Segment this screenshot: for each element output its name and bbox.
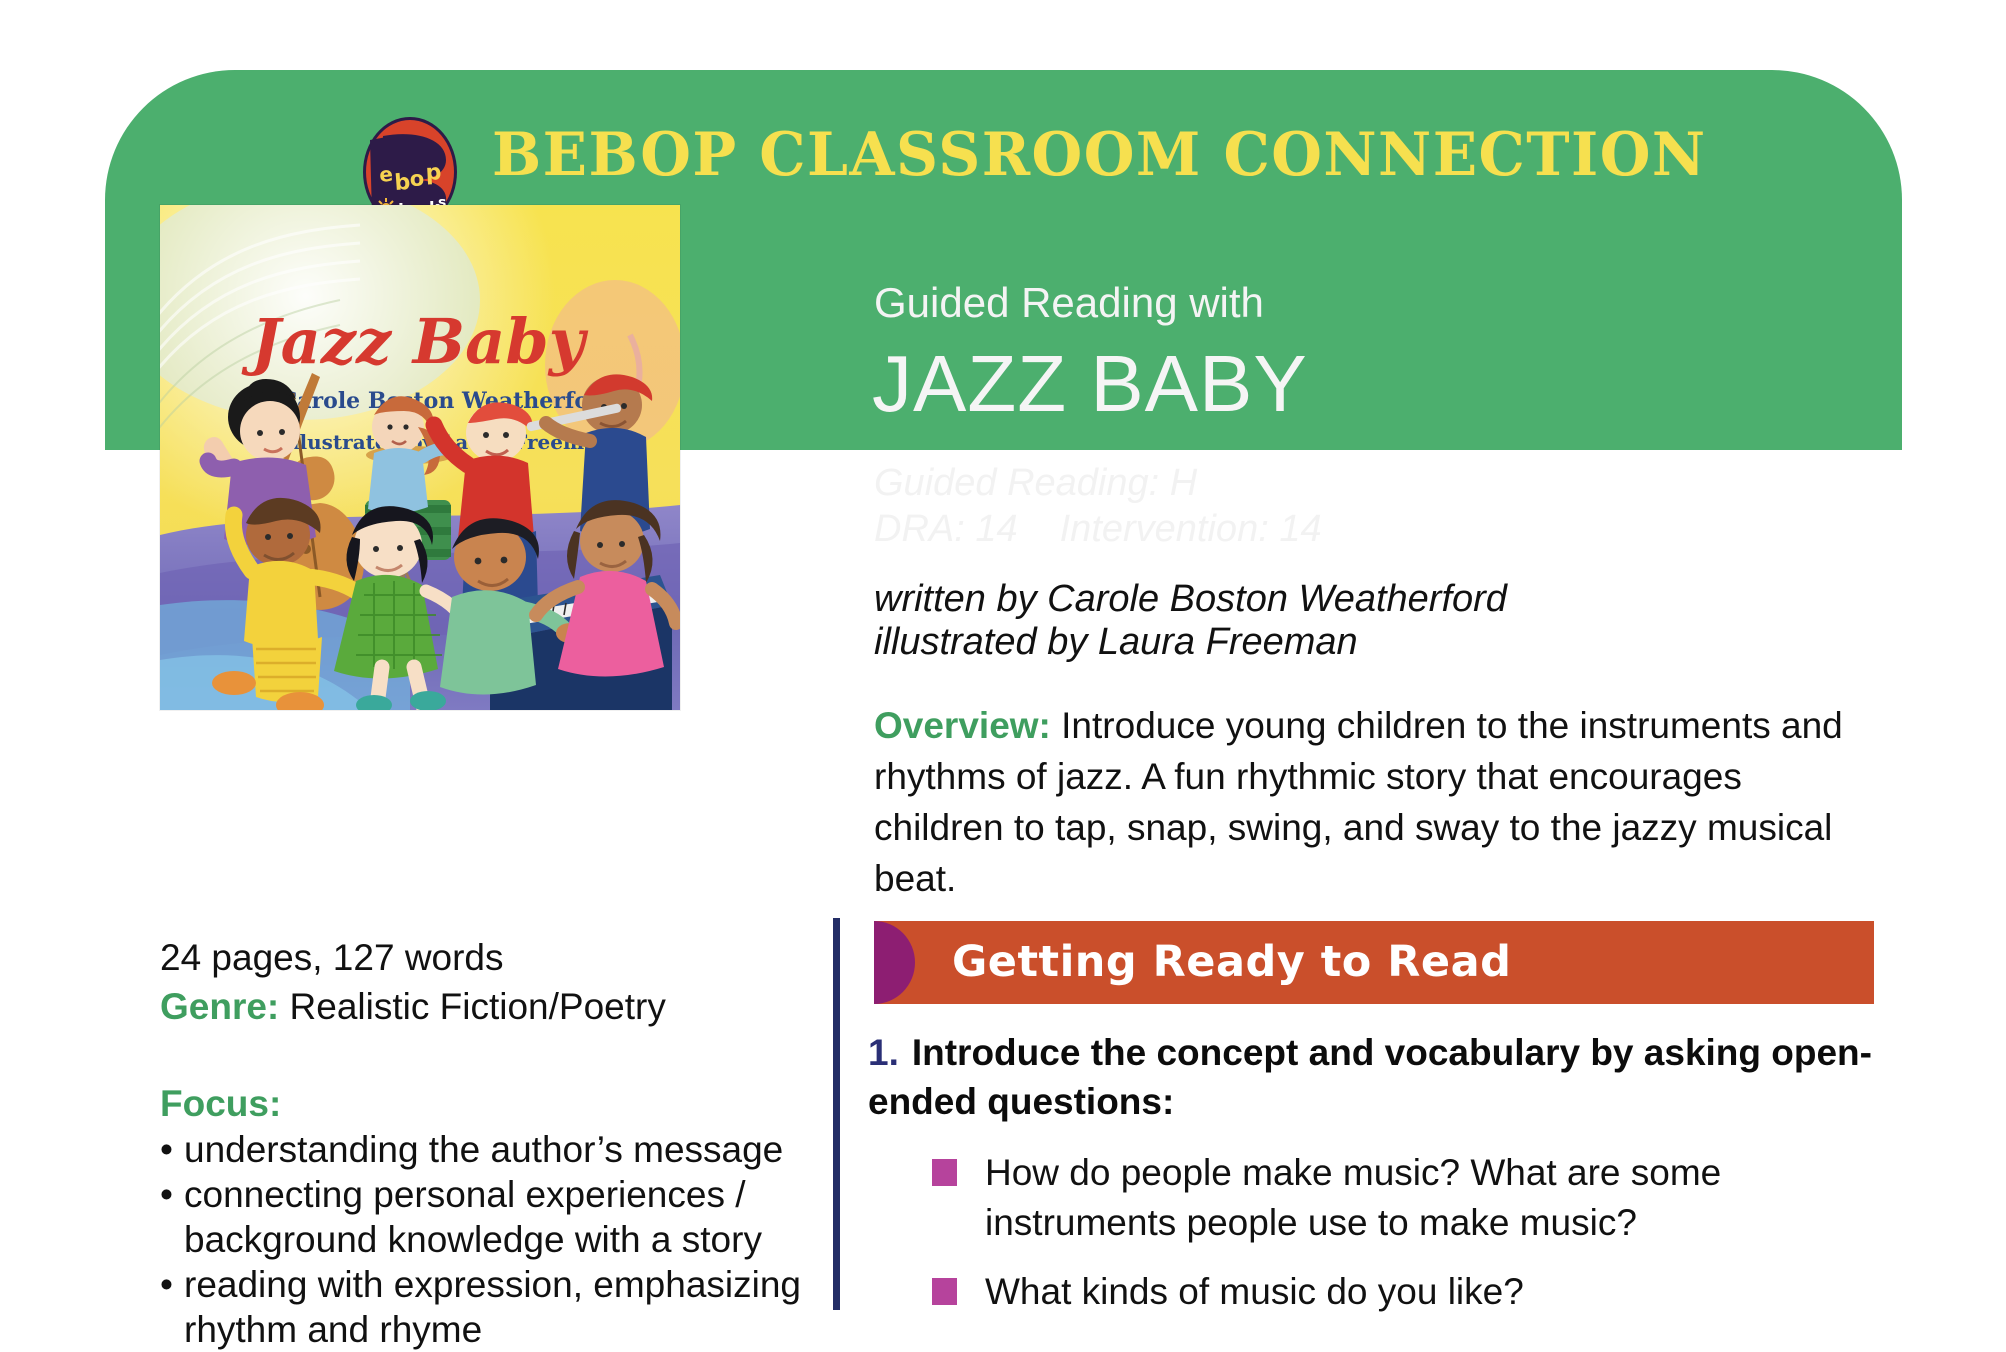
genre-line: Genre: Realistic Fiction/Poetry [160,984,820,1031]
list-item: How do people make music? What are some … [932,1148,1892,1249]
section-dot-decoration [874,921,915,1004]
step-item: 1.Introduce the concept and vocabulary b… [868,1028,1878,1126]
written-by-line: written by Carole Boston Weatherford [874,578,1507,621]
book-info-panel: 24 pages, 127 words Genre: Realistic Fic… [160,935,820,1352]
list-item: What kinds of music do you like? [932,1267,1892,1317]
list-item: • reading with expression, emphasizing r… [160,1262,820,1352]
focus-list: • understanding the author’s message • c… [160,1127,820,1352]
jazz-baby-book-cover: Jazz Baby by Carole Boston Weatherford i… [160,205,680,710]
square-bullet-icon [932,1278,957,1305]
dra-intervention-line: DRA: 14Intervention: 14 [874,506,1322,552]
question-text: How do people make music? What are some … [985,1148,1892,1249]
overview-label: Overview: [874,705,1051,746]
masthead-title: BEBOP CLASSROOM CONNECTION [492,120,1707,190]
genre-value: Realistic Fiction/Poetry [279,986,666,1027]
focus-label: Focus: [160,1082,820,1126]
open-ended-question-list: How do people make music? What are some … [932,1148,1892,1335]
svg-text:e: e [378,162,394,187]
list-item: • understanding the author’s message [160,1127,820,1172]
page-title: JAZZ BABY [872,340,1308,428]
question-text: What kinds of music do you like? [985,1267,1892,1317]
getting-ready-to-read-header: Getting Ready to Read [874,921,1874,1004]
square-bullet-icon [932,1159,957,1186]
step-text: Introduce the concept and vocabulary by … [868,1032,1872,1122]
overview-paragraph: Overview: Introduce young children to th… [874,700,1864,904]
book-credits: written by Carole Boston Weatherford ill… [874,578,1507,663]
column-divider [833,918,840,1310]
bullet-icon: • [160,1127,180,1172]
bullet-icon: • [160,1172,180,1217]
list-item: • connecting personal experiences / back… [160,1172,820,1262]
focus-item-text: connecting personal experiences / backgr… [184,1172,820,1262]
svg-text:Jazz Baby: Jazz Baby [241,305,588,378]
svg-text:p: p [425,160,442,186]
svg-text:b: b [394,170,411,196]
bullet-icon: • [160,1262,180,1307]
illustrated-by-line: illustrated by Laura Freeman [874,621,1507,664]
reading-levels: Guided Reading: H DRA: 14Intervention: 1… [874,460,1322,553]
svg-text:o: o [409,167,424,191]
step-number: 1. [868,1032,899,1073]
guided-reading-kicker: Guided Reading with [874,280,1264,326]
pages-words-line: 24 pages, 127 words [160,935,820,982]
intervention-level: Intervention: 14 [1060,508,1322,550]
focus-item-text: reading with expression, emphasizing rhy… [184,1262,820,1352]
dra-level: DRA: 14 [874,508,1018,550]
guided-reading-level: Guided Reading: H [874,460,1322,506]
section-title: Getting Ready to Read [952,937,1511,987]
focus-item-text: understanding the author’s message [184,1127,820,1172]
genre-label: Genre: [160,986,279,1027]
